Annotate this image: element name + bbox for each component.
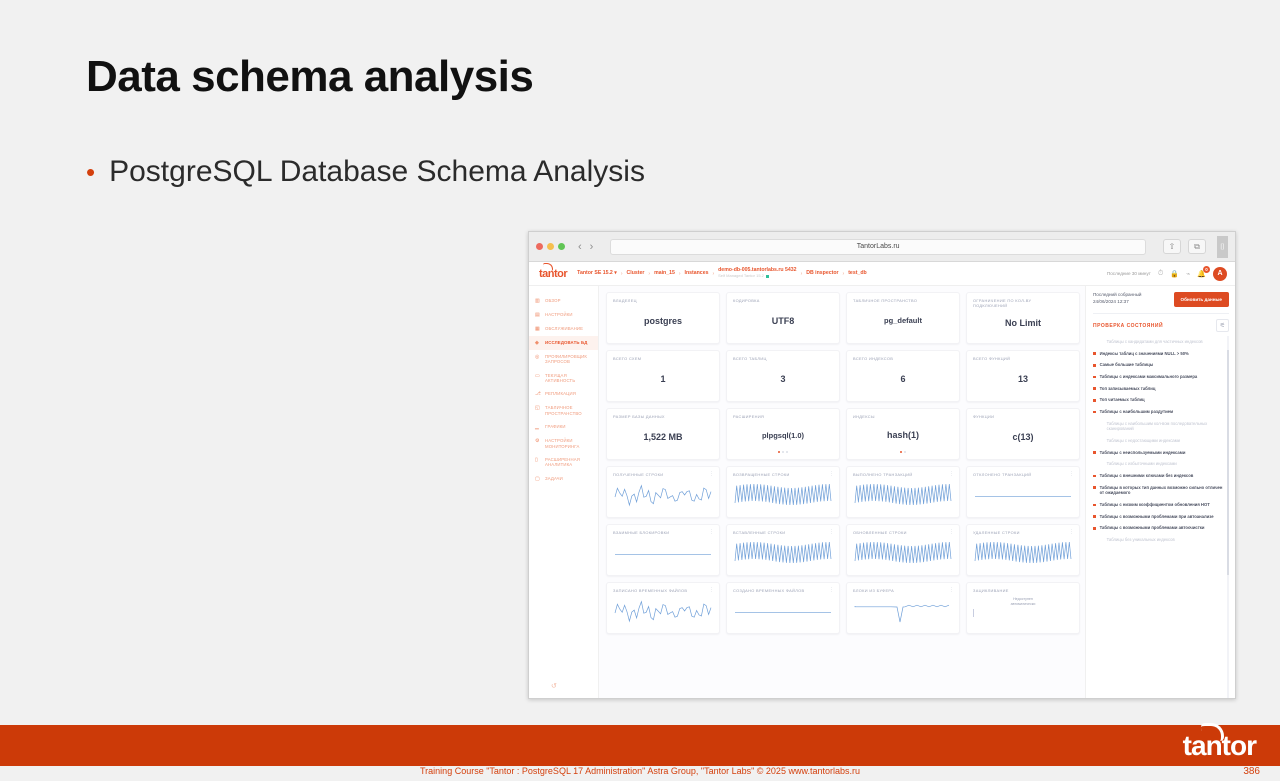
metric-card-value: c(13) [973,419,1073,454]
sidebar-item-label: ГРАФИКИ [545,424,566,429]
breadcrumb-separator: › [648,271,650,277]
sparkline-chart [733,535,833,570]
sparkline-chart [613,593,713,628]
check-list-item[interactable]: Таблицы с избыточными индексами [1093,458,1223,470]
check-bullet-icon [1100,341,1103,344]
metric-card-value: pg_default [853,303,953,338]
check-bullet-icon [1100,463,1103,466]
sidebar-item-label: ТЕКУЩАЯ АКТИВНОСТЬ [545,373,594,384]
metric-card-value: postgres [613,303,713,338]
breadcrumb-item[interactable]: demo-db-005.tantorlabs.ru 5432Self Manag… [718,268,796,279]
bell-icon[interactable]: 🔔 0 [1197,270,1206,278]
share-icon[interactable]: ⇧ [1163,239,1181,254]
card-pager[interactable] [733,451,833,454]
time-range-label[interactable]: Последние 30 минут [1107,271,1151,276]
breadcrumb-label: Instances [685,271,709,277]
kebab-menu-icon[interactable]: ⋮ [1069,472,1074,477]
refresh-data-button[interactable]: Обновить данные [1174,292,1230,307]
check-item-label: Самые большие таблицы [1100,362,1154,368]
sidebar-item-label: РЕПЛИКАЦИЯ [545,391,576,396]
check-list-item[interactable]: Таблицы с недостающими индексами [1093,435,1223,447]
check-bullet-icon [1100,440,1103,443]
sidebar-item-3[interactable]: ◈ИССЛЕДОВАТЬ БД [529,336,598,350]
check-bullet-icon [1093,364,1096,367]
sidebar-item-5[interactable]: ▭ТЕКУЩАЯ АКТИВНОСТЬ [529,369,598,388]
sidebar-item-label: НАСТРОЙКИ [545,312,573,317]
address-bar[interactable]: TantorLabs.ru [610,239,1146,255]
check-item-label: Таблицы с наибольшим раздутием [1100,409,1173,415]
metric-card[interactable]: ОБНОВЛЕННЫЕ СТРОКИ⋮ [846,524,960,576]
metric-card-value: 3 [733,361,833,396]
check-bullet-icon [1093,475,1096,478]
check-bullet-icon [1093,515,1096,518]
breadcrumb-sublabel: Self Managed Tantor 15.2 [718,274,796,279]
breadcrumb-label: Tantor SE 15.2 ▾ [577,271,617,277]
sidebar-item-label: ИССЛЕДОВАТЬ БД [545,340,587,345]
sidebar-item-label: ТАБЛИЧНОЕ ПРОСТРАНСТВО [545,405,594,416]
check-bullet-icon [1100,422,1103,425]
maintenance-icon: ▦ [535,326,541,332]
check-bullet-icon [1093,504,1096,507]
metric-card-value: 1,522 MB [613,419,713,454]
sparkline-chart [853,477,953,512]
check-bullet-icon [1093,527,1096,530]
metric-card[interactable]: ВОЗВРАЩЕННЫЕ СТРОКИ⋮ [726,466,840,518]
clock-icon[interactable]: ⏱ [1158,270,1163,278]
breadcrumb-label: Cluster [627,271,645,277]
sidebar-item-8[interactable]: ▁ГРАФИКИ [529,420,598,434]
card-pager[interactable] [853,451,953,454]
metric-card-value: plpgsql(1.0) [733,419,833,451]
pager-dot[interactable] [900,451,902,453]
sparkline-chart [853,593,953,628]
checks-header: ПРОВЕРКА СОСТОЯНИЙ ⚟ [1093,319,1229,332]
metric-card[interactable]: УДАЛЕННЫЕ СТРОКИ⋮ [966,524,1080,576]
check-list-item[interactable]: Индексы таблиц с значениями NULL > 50% [1093,348,1223,360]
check-bullet-icon [1093,411,1096,414]
app-body: ▥ОБЗОР▤НАСТРОЙКИ▦ОБСЛУЖИВАНИЕ◈ИССЛЕДОВАТ… [529,286,1235,698]
footer-logo: tantor [1183,730,1256,762]
pager-dot[interactable] [904,451,906,453]
settings-icon: ▤ [535,312,541,318]
filter-icon[interactable]: ⚟ [1216,319,1229,332]
metric-card-value: No Limit [973,308,1073,338]
sparkline-chart [733,593,833,628]
check-list-item[interactable]: Таблицы с кандидатами для частичных инде… [1093,336,1223,348]
tasks-icon: ▢ [535,476,541,482]
zoom-icon[interactable] [558,243,565,250]
check-list-item[interactable]: Таблицы с наибольшим раздутием [1093,406,1223,418]
header-actions: Последние 30 минут ⏱ 🔒 ⌁ 🔔 0 A [1107,267,1227,281]
forward-icon[interactable]: › [590,241,594,253]
sidebar-item-label: РАСШИРЕННАЯ АНАЛИТИКА [545,457,594,468]
tabs-icon[interactable]: ⧉ [1188,239,1206,254]
scrollbar-track[interactable] [1227,336,1229,698]
breadcrumb-item[interactable]: DB inspector [806,271,838,277]
last-collected-text: Последний собранный 24/06/2024 12:37 [1093,292,1169,305]
metric-card[interactable]: ПОЛУЧЕННЫЕ СТРОКИ⋮ [606,466,720,518]
check-list-item[interactable]: Таблицы с возможными проблемами при авто… [1093,511,1223,523]
charts-icon: ▁ [535,424,541,430]
dashboard-icon: ▥ [535,298,541,304]
check-item-label: Топ читаемых таблиц [1100,397,1145,403]
breadcrumb-item[interactable]: Tantor SE 15.2 ▾ [577,271,617,277]
database-explore-icon: ◈ [535,340,541,346]
check-list-item[interactable]: Топ читаемых таблиц [1093,394,1223,406]
sidebar-item-4[interactable]: ◎ПРОФИЛИРОВЩИК ЗАПРОСОВ [529,350,598,369]
last-collected-row: Последний собранный 24/06/2024 12:37 Обн… [1093,292,1229,307]
window-controls[interactable] [536,243,565,250]
metric-card[interactable]: ОТКЛОНЕНО ТРАНЗАКЦИЙ⋮ [966,466,1080,518]
sparkline-chart [613,535,713,570]
page-number: 386 [1243,766,1260,777]
check-list-item[interactable]: Таблицы с внешними ключами без индексов [1093,470,1223,482]
breadcrumb-item[interactable]: test_db [848,271,866,277]
check-list-item[interactable]: Таблицы с низким коэффициентом обновлени… [1093,499,1223,511]
metric-card[interactable]: ЗАЦИКЛИВАНИЕНедоступенавтоматически [966,582,1080,634]
metric-card-value: UTF8 [733,303,833,338]
sidebar-item-label: ОБЗОР [545,298,561,303]
profiler-icon: ◎ [535,354,541,360]
sparkline-chart [733,477,833,512]
pager-dot[interactable] [782,451,784,453]
check-item-label: Таблицы с избыточными индексами [1107,461,1177,467]
check-list-item[interactable]: Таблицы без уникальных индексов [1093,534,1223,546]
check-list-item[interactable]: Самые большие таблицы [1093,359,1223,371]
sidebar-item-11[interactable]: ▢ЗАДАЧИ [529,472,598,486]
sidebar-item-label: ЗАДАЧИ [545,476,563,481]
footer-bar [0,725,1280,766]
sidebar-item-9[interactable]: ⚙НАСТРОЙКИ МОНИТОРИНГА [529,434,598,453]
breadcrumb-item[interactable]: Instances [685,271,709,277]
avatar[interactable]: A [1213,267,1227,281]
breadcrumb-separator: › [712,271,714,277]
check-item-label: Таблицы с недостающими индексами [1107,438,1180,444]
check-item-label: Топ записываемых таблиц [1100,386,1156,392]
nav-buttons[interactable]: ‹ › [578,241,593,253]
pager-dot[interactable] [778,451,780,453]
close-icon[interactable] [536,243,543,250]
last-collected-time: 24/06/2024 12:37 [1093,299,1169,306]
embedded-screenshot: ‹ › TantorLabs.ru ⇧ ⧉ ⌷ tantor Tantor SE… [528,231,1236,699]
check-list-item[interactable]: Таблицы с индексами максимального размер… [1093,371,1223,383]
metric-card[interactable]: ВСЕГО СХЕМ1 [606,350,720,402]
breadcrumb-label: main_15 [654,271,675,277]
breadcrumb-label: DB inspector [806,271,838,277]
tablespace-icon: ◱ [535,405,541,411]
kebab-menu-icon[interactable]: ⋮ [709,530,714,535]
last-collected-label: Последний собранный [1093,292,1169,299]
check-list-item[interactable]: Топ записываемых таблиц [1093,383,1223,395]
sidebar-toggle-icon[interactable]: ⌷ [1217,236,1228,258]
check-item-label: Таблицы в которых тип данных возможно си… [1100,485,1223,496]
check-list-item[interactable]: Таблицы с неиспользуемыми индексами [1093,447,1223,459]
kebab-menu-icon[interactable]: ⋮ [709,588,714,593]
metric-card-value: hash(1) [853,419,953,451]
check-list-item[interactable]: Таблицы с наибольшим кол-вом последовате… [1093,418,1223,435]
checks-title: ПРОВЕРКА СОСТОЯНИЙ [1093,323,1163,329]
sparkline-chart [613,477,713,512]
sparkline-chart [853,535,953,570]
check-bullet-icon [1093,399,1096,402]
back-icon[interactable]: ‹ [578,241,582,253]
check-item-label: Таблицы с индексами максимального размер… [1100,374,1198,380]
tantor-logo[interactable]: tantor [537,268,567,280]
metric-card[interactable]: ВСЕГО ТАБЛИЦ3 [726,350,840,402]
check-bullet-icon [1093,387,1096,390]
metric-card[interactable]: ВСТАВЛЕННЫЕ СТРОКИ⋮ [726,524,840,576]
breadcrumb-label: test_db [848,271,866,277]
check-list-item[interactable]: Таблицы в которых тип данных возможно си… [1093,482,1223,499]
bullet-item: • PostgreSQL Database Schema Analysis [86,155,645,189]
slide: Data schema analysis • PostgreSQL Databa… [0,0,1280,781]
divider [1093,313,1229,314]
check-item-label: Таблицы с возможными проблемами автоочис… [1100,525,1205,531]
sidebar: ▥ОБЗОР▤НАСТРОЙКИ▦ОБСЛУЖИВАНИЕ◈ИССЛЕДОВАТ… [529,286,599,698]
sidebar-item-10[interactable]: ▯РАСШИРЕННАЯ АНАЛИТИКА [529,453,598,472]
check-item-label: Таблицы с неиспользуемыми индексами [1100,450,1186,456]
minimize-icon[interactable] [547,243,554,250]
lock-icon[interactable]: 🔒 [1170,270,1179,278]
metric-card[interactable]: ВЛАДЕЛЕЦpostgres [606,292,720,344]
metric-card[interactable]: ВЗАИМНЫЕ БЛОКИРОВКИ⋮ [606,524,720,576]
undo-icon[interactable]: ↺ [551,682,557,690]
analytics-icon: ▯ [535,457,541,463]
metric-card[interactable]: РАСШИРЕНИЯplpgsql(1.0) [726,408,840,460]
check-bullet-icon [1093,376,1096,379]
metric-card[interactable]: ОГРАНИЧЕНИЕ ПО КОЛ-ВУ ПОДКЛЮЧЕНИЙNo Limi… [966,292,1080,344]
check-item-label: Таблицы без уникальных индексов [1107,537,1175,543]
sidebar-item-label: НАСТРОЙКИ МОНИТОРИНГА [545,438,594,449]
checks-list: Таблицы с кандидатами для частичных инде… [1093,336,1229,698]
monitoring-settings-icon: ⚙ [535,438,541,444]
sidebar-item-6[interactable]: ⎇РЕПЛИКАЦИЯ [529,387,598,401]
window-footer [529,698,1235,699]
metric-card[interactable]: ЗАПИСАНО ВРЕМЕННЫХ ФАЙЛОВ⋮ [606,582,720,634]
sparkline-chart [973,477,1073,512]
metric-card[interactable]: ВЫПОЛНЕНО ТРАНЗАКЦИЙ⋮ [846,466,960,518]
check-item-label: Таблицы с низким коэффициентом обновлени… [1100,502,1210,508]
metric-card-value: 13 [973,361,1073,396]
kebab-menu-icon[interactable]: ⋮ [1069,530,1074,535]
breadcrumb-separator: › [801,271,803,277]
breadcrumb: Tantor SE 15.2 ▾›Cluster›main_15›Instanc… [577,268,1097,279]
sidebar-item-7[interactable]: ◱ТАБЛИЧНОЕ ПРОСТРАНСТВО [529,401,598,420]
browser-toolbar: ‹ › TantorLabs.ru ⇧ ⧉ ⌷ [529,232,1235,262]
breadcrumb-item[interactable]: main_15 [654,271,675,277]
footer-note: Training Course "Tantor : PostgreSQL 17 … [0,766,1280,776]
kebab-menu-icon[interactable]: ⋮ [829,472,834,477]
check-item-label: Таблицы с возможными проблемами при авто… [1100,514,1214,520]
kebab-menu-icon[interactable]: ⋮ [829,588,834,593]
sidebar-item-label: ПРОФИЛИРОВЩИК ЗАПРОСОВ [545,354,594,365]
metric-card[interactable]: ВСЕГО ИНДЕКСОВ6 [846,350,960,402]
check-bullet-icon [1100,539,1103,542]
page-title: Data schema analysis [86,52,533,102]
inspector-panel: Последний собранный 24/06/2024 12:37 Обн… [1085,286,1235,698]
scrollbar-thumb[interactable] [1227,350,1229,574]
kebab-menu-icon[interactable]: ⋮ [949,530,954,535]
check-bullet-icon [1093,451,1096,454]
metric-card-note: Недоступенавтоматически [973,593,1073,617]
kebab-menu-icon[interactable]: ⋮ [829,530,834,535]
check-item-label: Таблицы с кандидатами для частичных инде… [1107,339,1203,345]
metric-card[interactable]: СОЗДАНО ВРЕМЕННЫХ ФАЙЛОВ⋮ [726,582,840,634]
metric-card[interactable]: ИНДЕКСЫhash(1) [846,408,960,460]
metric-card[interactable]: ФУНКЦИИc(13) [966,408,1080,460]
kebab-menu-icon[interactable]: ⋮ [949,588,954,593]
check-bullet-icon [1093,352,1096,355]
metric-card-value: 6 [853,361,953,396]
app-header: tantor Tantor SE 15.2 ▾›Cluster›main_15›… [529,262,1235,286]
activity-icon: ▭ [535,373,541,379]
metric-card[interactable]: ТАБЛИЧНОЕ ПРОСТРАНСТВОpg_default [846,292,960,344]
kebab-menu-icon[interactable]: ⋮ [709,472,714,477]
sidebar-item-1[interactable]: ▤НАСТРОЙКИ [529,308,598,322]
metric-card[interactable]: БЛОКИ ИЗ БУФЕРА⋮ [846,582,960,634]
bullet-text: PostgreSQL Database Schema Analysis [109,155,645,189]
sidebar-item-2[interactable]: ▦ОБСЛУЖИВАНИЕ [529,322,598,336]
check-item-label: Таблицы с внешними ключами без индексов [1100,473,1194,479]
metric-card-value: 1 [613,361,713,396]
notification-badge: 0 [1203,266,1210,273]
sidebar-item-0[interactable]: ▥ОБЗОР [529,294,598,308]
share-icon[interactable]: ⌁ [1186,270,1190,278]
pager-dot[interactable] [786,451,788,453]
check-bullet-icon [1093,486,1096,489]
kebab-menu-icon[interactable]: ⋮ [949,472,954,477]
bullet-marker-icon: • [86,159,95,185]
check-list-item[interactable]: Таблицы с возможными проблемами автоочис… [1093,522,1223,534]
check-item-label: Таблицы с наибольшим кол-вом последовате… [1107,421,1223,432]
sidebar-item-label: ОБСЛУЖИВАНИЕ [545,326,583,331]
metric-card[interactable]: ВСЕГО ФУНКЦИЙ13 [966,350,1080,402]
check-item-label: Индексы таблиц с значениями NULL > 50% [1100,351,1189,357]
breadcrumb-item[interactable]: Cluster [627,271,645,277]
breadcrumb-separator: › [621,271,623,277]
metrics-grid: ВЛАДЕЛЕЦpostgresКОДИРОВКАUTF8ТАБЛИЧНОЕ П… [599,286,1085,698]
metric-card[interactable]: РАЗМЕР БАЗЫ ДАННЫХ1,522 MB [606,408,720,460]
breadcrumb-separator: › [843,271,845,277]
metric-card-label: ОГРАНИЧЕНИЕ ПО КОЛ-ВУ ПОДКЛЮЧЕНИЙ [973,298,1073,308]
sparkline-chart [973,535,1073,570]
metric-card[interactable]: КОДИРОВКАUTF8 [726,292,840,344]
replication-icon: ⎇ [535,391,541,397]
breadcrumb-separator: › [679,271,681,277]
